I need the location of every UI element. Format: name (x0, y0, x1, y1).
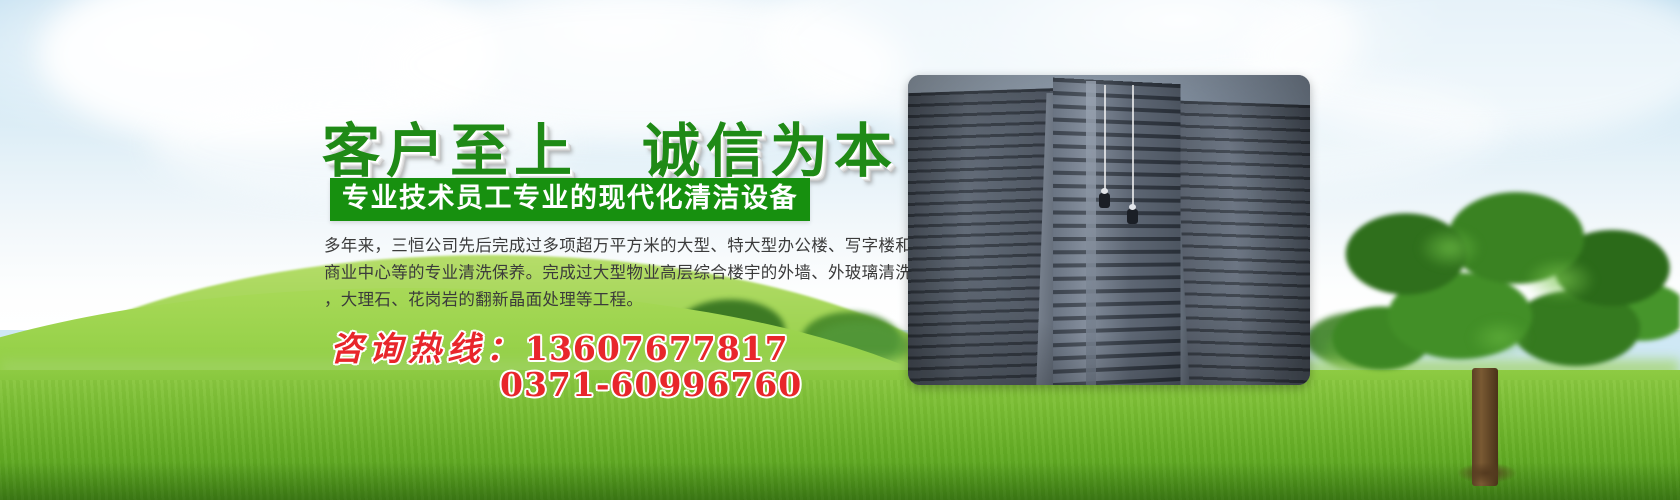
paragraph-line: 商业中心等的专业清洗保养。完成过大型物业高层综合楼宇的外墙、外玻璃清洗 (324, 259, 884, 286)
tree-illustration (1320, 188, 1680, 478)
tree-canopy-highlight (1330, 198, 1670, 393)
tree-root-shadow (1448, 460, 1526, 486)
description-paragraph: 多年来，三恒公司先后完成过多项超万平方米的大型、特大型办公楼、写字楼和 商业中心… (324, 232, 884, 313)
building-photo (908, 75, 1310, 385)
hotline-label: 咨询热线： (330, 329, 525, 368)
promo-banner: 客户至上 诚信为本 专业技术员工专业的现代化清洁设备 多年来，三恒公司先后完成过… (0, 0, 1680, 500)
page-title: 客户至上 诚信为本 (322, 104, 898, 188)
hotline-landline-number[interactable]: 0371-60996760 (500, 365, 802, 404)
paragraph-line: 多年来，三恒公司先后完成过多项超万平方米的大型、特大型办公楼、写字楼和 (324, 232, 884, 259)
paragraph-line: ，大理石、花岗岩的翻新晶面处理等工程。 (324, 286, 884, 313)
hotline-primary[interactable]: 咨询热线：13607677817 (330, 322, 789, 370)
subtitle-text: 专业技术员工专业的现代化清洁设备 (342, 184, 798, 213)
hotline-mobile-number[interactable]: 13607677817 (525, 329, 789, 368)
subtitle-banner: 专业技术员工专业的现代化清洁设备 (330, 178, 810, 221)
photo-vignette (908, 75, 1310, 385)
